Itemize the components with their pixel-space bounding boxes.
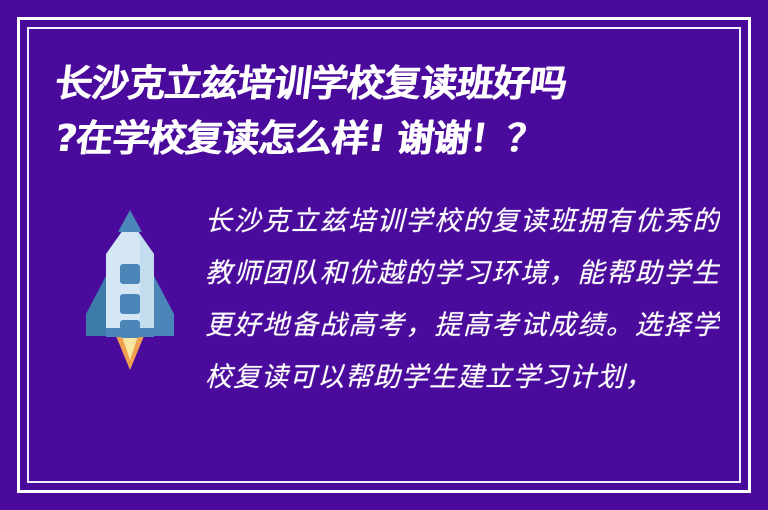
body-paragraph: 长沙克立兹培训学校的复读班拥有优秀的教师团队和优越的学习环境，能帮助学生更好地备… <box>205 196 720 404</box>
rocket-fin-left <box>86 276 106 336</box>
rocket-nose-tip <box>118 210 142 232</box>
promo-banner: 长沙克立兹培训学校复读班好吗 ?在学校复读怎么样! 谢谢！？ <box>0 0 768 510</box>
rocket-illustration-wrap <box>55 196 205 370</box>
rocket-fin-right <box>154 276 174 336</box>
rocket-icon <box>82 210 178 370</box>
content-row: 长沙克立兹培训学校的复读班拥有优秀的教师团队和优越的学习环境，能帮助学生更好地备… <box>55 196 720 404</box>
headline-line-1: 长沙克立兹培训学校复读班好吗 <box>52 56 719 111</box>
rocket-window-top <box>120 264 140 284</box>
rocket-window-bottom <box>120 320 140 338</box>
headline: 长沙克立兹培训学校复读班好吗 ?在学校复读怎么样! 谢谢！？ <box>55 56 715 166</box>
rocket-window-middle <box>120 294 140 314</box>
headline-line-2: ?在学校复读怎么样! 谢谢！？ <box>52 111 719 166</box>
